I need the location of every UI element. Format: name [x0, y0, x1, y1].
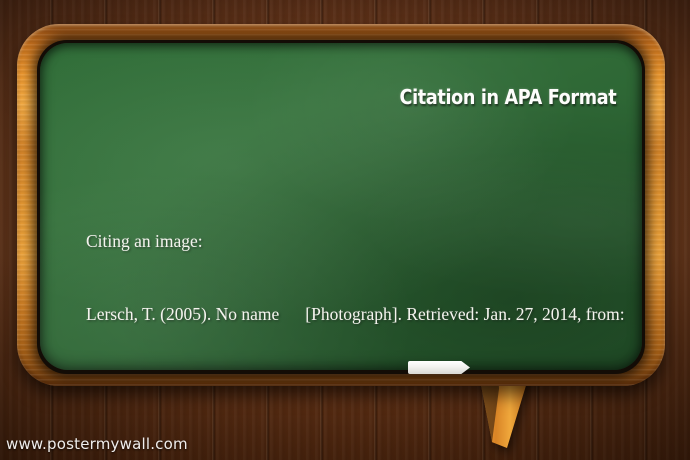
citation-text: [Photograph]. Retrieved: Jan. 27, 2014, … — [305, 304, 624, 324]
citation-line: Lersch, T. (2005). No name[Photograph]. … — [86, 302, 642, 326]
citation-block-image: Citing an image: Lersch, T. (2005). No n… — [86, 180, 642, 370]
chalk-stick-icon — [408, 361, 470, 374]
page-title: Citation in APA Format — [399, 85, 616, 109]
citation-list: Citing an image: Lersch, T. (2005). No n… — [86, 107, 642, 370]
citation-text: Lersch, T. (2005). No name — [86, 304, 279, 324]
chalkboard-frame: Citation in APA Format Citing an image: … — [17, 24, 665, 386]
watermark-label: www.postermywall.com — [6, 435, 188, 453]
citation-heading-image: Citing an image: — [86, 229, 642, 253]
chalkboard-surface: Citation in APA Format Citing an image: … — [40, 43, 642, 370]
